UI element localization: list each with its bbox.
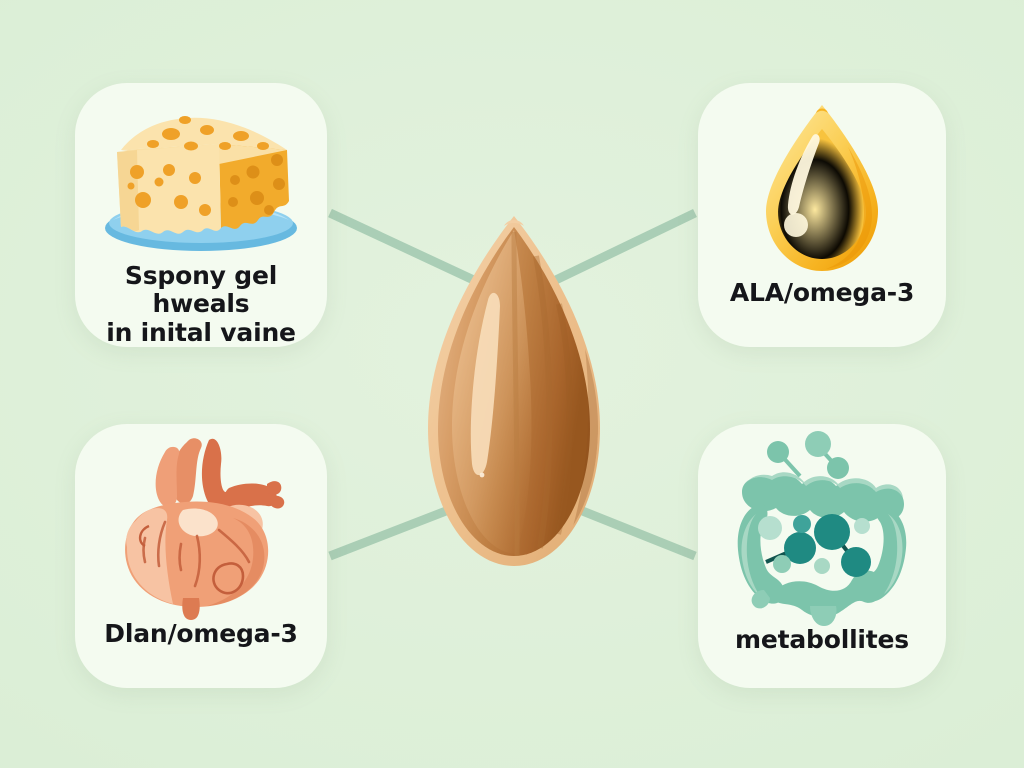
heart-vein-left <box>156 447 180 507</box>
diagram-canvas: Sspony gel hweals in inital vaine <box>0 0 1024 768</box>
molecule-top-right <box>805 431 849 479</box>
sponge-gel-icon <box>91 106 311 256</box>
droplet-highlight-dot <box>784 213 808 237</box>
node-label-bottom-right-line1: metabollites <box>708 626 936 655</box>
seed-speck <box>480 473 485 478</box>
node-label-top-right: ALA/omega-3 <box>698 279 946 308</box>
node-label-bottom-left: Dlan/omega-3 <box>75 620 327 649</box>
node-label-top-right-line1: ALA/omega-3 <box>708 279 936 308</box>
sponge-gel-art <box>75 105 327 258</box>
node-card-top-left[interactable]: Sspony gel hweals in inital vaine <box>75 83 327 347</box>
colon-rectum <box>810 606 837 626</box>
node-label-top-left: Sspony gel hweals in inital vaine <box>75 262 327 348</box>
anatomical-heart-icon <box>101 434 301 620</box>
node-label-top-left-line2: in inital vaine <box>85 319 317 348</box>
oil-droplet-art <box>698 101 946 277</box>
node-card-top-right[interactable]: ALA/omega-3 <box>698 83 946 347</box>
node-card-bottom-left[interactable]: Dlan/omega-3 <box>75 424 327 688</box>
node-label-bottom-right: metabollites <box>698 626 946 655</box>
node-label-bottom-left-line1: Dlan/omega-3 <box>85 620 317 649</box>
node-label-top-left-line1: Sspony gel hweals <box>85 262 317 319</box>
oil-droplet-icon <box>754 101 890 277</box>
node-card-bottom-right[interactable]: metabollites <box>698 424 946 688</box>
anatomical-heart-art <box>75 434 327 620</box>
heart-apex-stub <box>182 598 199 620</box>
intestine-metabolites-art <box>698 430 946 626</box>
intestine-metabolites-icon <box>722 430 922 626</box>
molecule-top-left <box>767 441 800 476</box>
seed-icon <box>418 212 610 572</box>
